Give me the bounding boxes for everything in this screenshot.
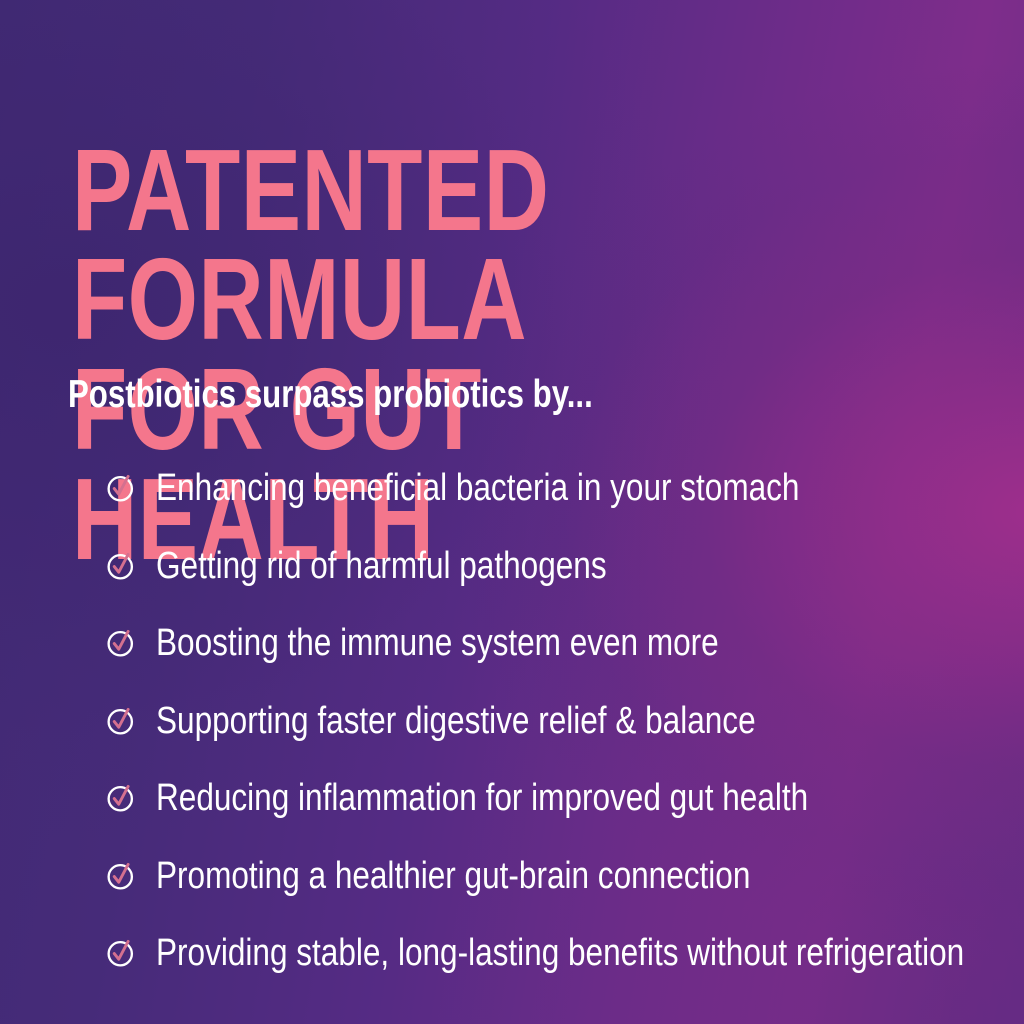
list-item-7: Providing stable, long-lasting benefits … bbox=[106, 933, 984, 973]
list-item-label: Getting rid of harmful pathogens bbox=[156, 547, 607, 585]
list-item-1: Enhancing beneficial bacteria in your st… bbox=[106, 468, 984, 508]
list-item-label: Reducing inflammation for improved gut h… bbox=[156, 779, 808, 817]
list-item-label: Providing stable, long-lasting benefits … bbox=[156, 934, 964, 972]
list-item-6: Promoting a healthier gut-brain connecti… bbox=[106, 856, 984, 896]
check-circle-icon bbox=[106, 861, 136, 891]
list-item-5: Reducing inflammation for improved gut h… bbox=[106, 778, 984, 818]
list-item-2: Getting rid of harmful pathogens bbox=[106, 546, 984, 586]
list-item-label: Boosting the immune system even more bbox=[156, 624, 719, 662]
check-circle-icon bbox=[106, 783, 136, 813]
list-item-4: Supporting faster digestive relief & bal… bbox=[106, 701, 984, 741]
check-circle-icon bbox=[106, 551, 136, 581]
check-circle-icon bbox=[106, 628, 136, 658]
list-item-label: Enhancing beneficial bacteria in your st… bbox=[156, 469, 799, 507]
list-item-label: Supporting faster digestive relief & bal… bbox=[156, 702, 756, 740]
check-circle-icon bbox=[106, 473, 136, 503]
list-item-3: Boosting the immune system even more bbox=[106, 623, 984, 663]
check-circle-icon bbox=[106, 706, 136, 736]
check-circle-icon bbox=[106, 938, 136, 968]
promo-poster: PATENTED FORMULA FOR GUT HEALTH Postbiot… bbox=[0, 0, 1024, 1024]
list-item-label: Promoting a healthier gut-brain connecti… bbox=[156, 857, 750, 895]
subtitle: Postbiotics surpass probiotics by... bbox=[68, 373, 593, 417]
benefits-list: Enhancing beneficial bacteria in your st… bbox=[66, 468, 984, 973]
poster-content: PATENTED FORMULA FOR GUT HEALTH Postbiot… bbox=[0, 0, 1024, 1024]
